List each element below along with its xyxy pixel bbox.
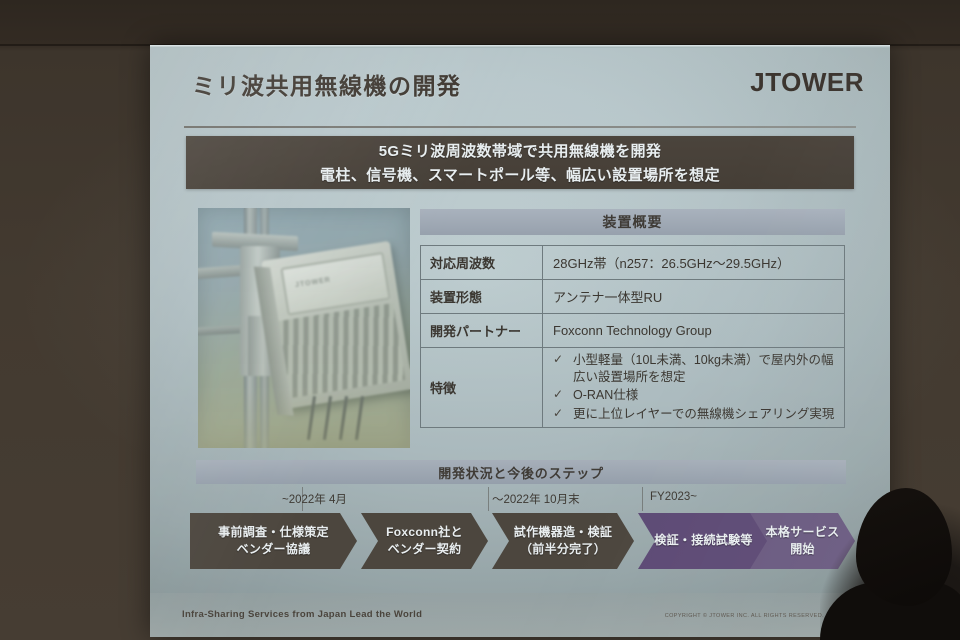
check-icon: ✓ <box>553 406 563 422</box>
roadmap-step-3-line2: （前半分完了） <box>520 542 606 557</box>
subtitle-line-1: 5Gミリ波周波数帯域で共用無線機を開発 <box>379 140 662 161</box>
feature-list: ✓ 小型軽量（10L未満、10kg未満）で屋内外の幅広い設置場所を想定 ✓ O-… <box>543 348 844 427</box>
roadmap-step-3-line1: 試作機器造・検証 <box>514 525 612 540</box>
footer-copyright: COPYRIGHT © JTOWER INC. ALL RIGHTS RESER… <box>665 613 824 619</box>
subtitle-banner: 5Gミリ波周波数帯域で共用無線機を開発 電柱、信号機、スマートポール等、幅広い設… <box>186 136 854 189</box>
person-head <box>856 488 952 606</box>
roadmap-chevrons: 事前調査・仕様策定 ベンダー協議 Foxconn社と ベンダー契約 試作機器造・… <box>190 513 855 569</box>
spec-label-frequency: 対応周波数 <box>421 246 543 280</box>
device-photo: JTOWER <box>198 208 410 448</box>
photo-haze <box>198 208 410 448</box>
roadmap-step-4[interactable]: 検証・接続試験等 <box>638 513 769 569</box>
roadmap-header-label: 開発状況と今後のステップ <box>438 463 604 482</box>
subtitle-line-2: 電柱、信号機、スマートポール等、幅広い設置場所を想定 <box>320 164 720 185</box>
table-row: 装置形態 アンテナ一体型RU <box>421 280 845 314</box>
table-row: 開発パートナー Foxconn Technology Group <box>421 314 845 348</box>
spec-value-partner: Foxconn Technology Group <box>543 314 845 348</box>
spec-label-features: 特徴 <box>421 348 543 428</box>
roadmap-step-4-line1: 検証・接続試験等 <box>654 533 752 548</box>
roadmap-step-1-line1: 事前調査・仕様策定 <box>218 525 329 540</box>
roadmap-step-1[interactable]: 事前調査・仕様策定 ベンダー協議 <box>190 513 357 569</box>
timeline-date-3: FY2023~ <box>650 491 697 503</box>
timeline-tick <box>642 487 643 511</box>
spec-value-form: アンテナ一体型RU <box>543 280 845 314</box>
roadmap-step-2-line1: Foxconn社と <box>386 525 463 540</box>
table-row: 対応周波数 28GHz帯（n257：26.5GHz〜29.5GHz） <box>421 246 845 280</box>
feature-text: 小型軽量（10L未満、10kg未満）で屋内外の幅広い設置場所を想定 <box>573 353 833 384</box>
timeline-date-1: ~2022年 4月 <box>282 491 347 507</box>
spec-table-header-label: 装置概要 <box>603 212 663 232</box>
title-divider <box>184 126 856 128</box>
footer-band: Infra-Sharing Services from Japan Lead t… <box>150 593 890 637</box>
spec-value-frequency: 28GHz帯（n257：26.5GHz〜29.5GHz） <box>543 246 845 280</box>
jtower-logo: JTOWER <box>750 67 864 98</box>
person-silhouette <box>820 475 960 640</box>
roadmap-step-5-line2: 開始 <box>790 542 815 557</box>
roadmap-step-2[interactable]: Foxconn社と ベンダー契約 <box>361 513 488 569</box>
presentation-slide: ミリ波共用無線機の開発 JTOWER 5Gミリ波周波数帯域で共用無線機を開発 電… <box>150 45 890 637</box>
spec-label-form: 装置形態 <box>421 280 543 314</box>
list-item: ✓ 小型軽量（10L未満、10kg未満）で屋内外の幅広い設置場所を想定 <box>551 352 844 385</box>
roadmap-step-3[interactable]: 試作機器造・検証 （前半分完了） <box>492 513 634 569</box>
spec-table: 対応周波数 28GHz帯（n257：26.5GHz〜29.5GHz） 装置形態 … <box>420 245 845 428</box>
spec-value-features: ✓ 小型軽量（10L未満、10kg未満）で屋内外の幅広い設置場所を想定 ✓ O-… <box>543 348 845 428</box>
list-item: ✓ 更に上位レイヤーでの無線機シェアリング実現 <box>551 406 844 423</box>
feature-text: 更に上位レイヤーでの無線機シェアリング実現 <box>573 407 834 421</box>
table-row: 特徴 ✓ 小型軽量（10L未満、10kg未満）で屋内外の幅広い設置場所を想定 ✓… <box>421 348 845 428</box>
page-title: ミリ波共用無線機の開発 <box>192 67 462 101</box>
timeline-date-2: 〜2022年 10月末 <box>492 491 580 507</box>
footer-tagline: Infra-Sharing Services from Japan Lead t… <box>182 609 422 620</box>
check-icon: ✓ <box>553 352 563 368</box>
spec-label-partner: 開発パートナー <box>421 314 543 348</box>
timeline-tick <box>488 487 489 511</box>
roadmap-header: 開発状況と今後のステップ <box>196 460 846 484</box>
projection-screen: ミリ波共用無線機の開発 JTOWER 5Gミリ波周波数帯域で共用無線機を開発 電… <box>150 45 890 637</box>
spec-table-header: 装置概要 <box>420 209 845 235</box>
roadmap-step-2-line2: ベンダー契約 <box>388 542 462 557</box>
feature-text: O-RAN仕様 <box>573 388 638 402</box>
roadmap-step-1-line2: ベンダー協議 <box>237 542 311 557</box>
list-item: ✓ O-RAN仕様 <box>551 387 844 404</box>
check-icon: ✓ <box>553 387 563 403</box>
